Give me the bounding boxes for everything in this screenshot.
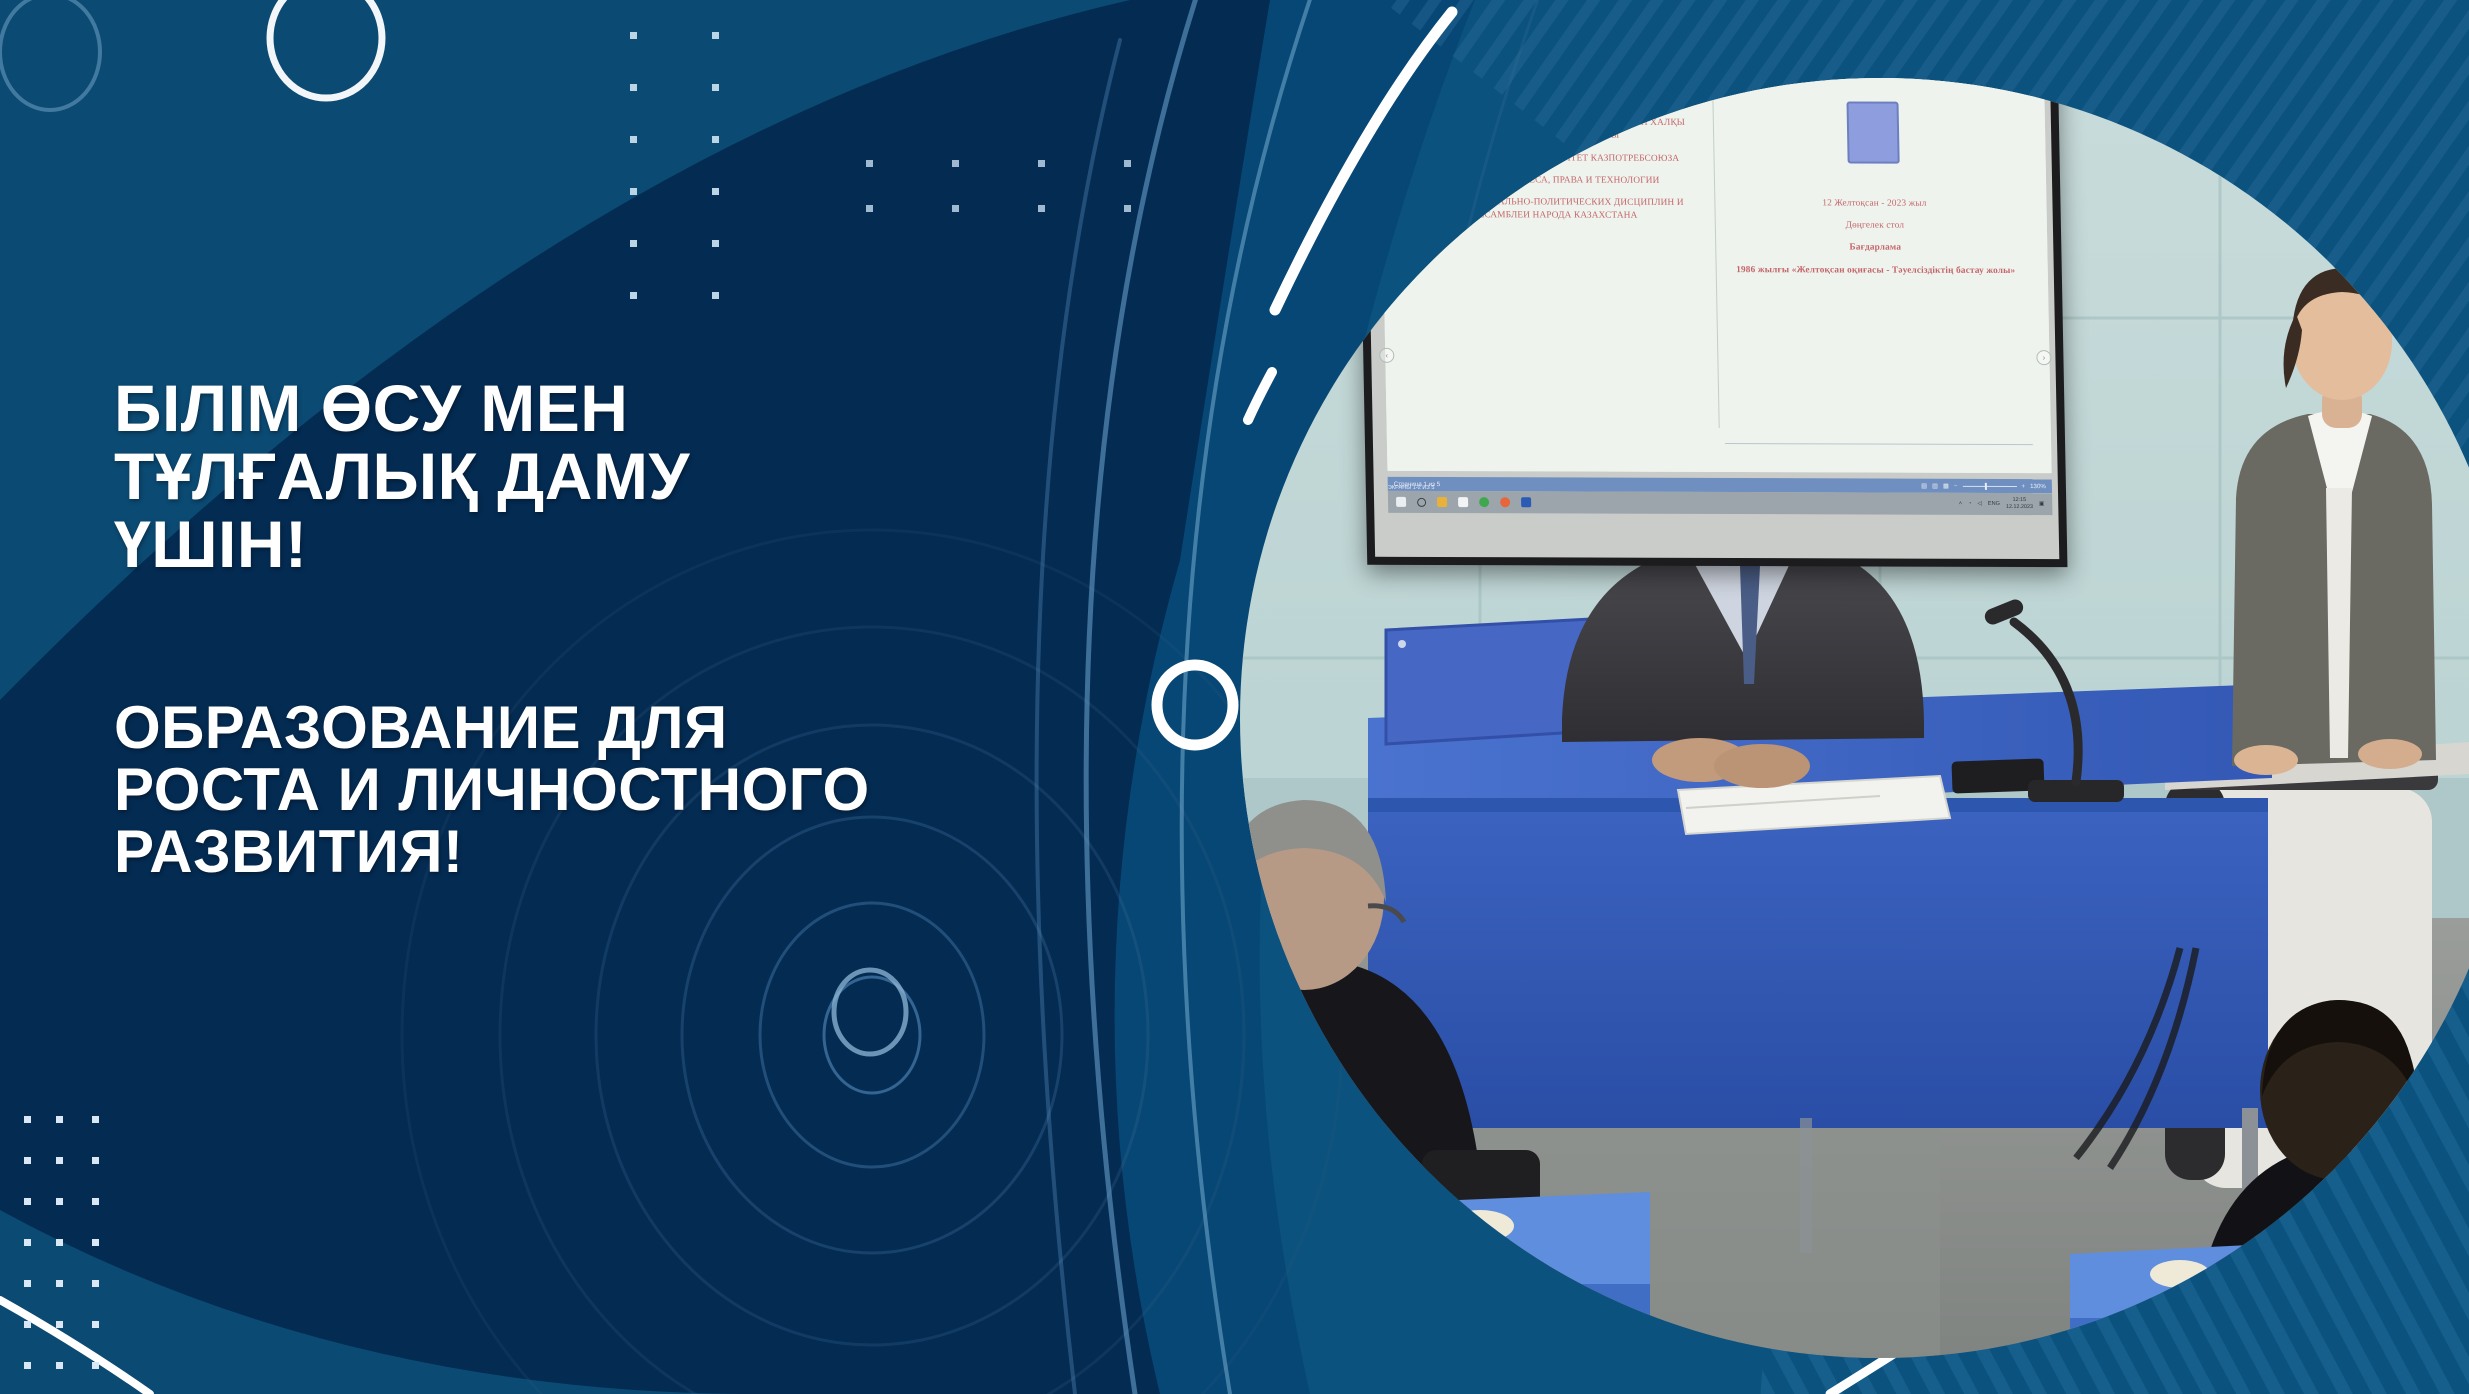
zoom-out-icon[interactable]: − bbox=[1954, 482, 1958, 489]
event-photo: Круглый стол Назавис. (защищенный просмо… bbox=[1180, 18, 2469, 1394]
zoom-level: 130% bbox=[2030, 483, 2046, 490]
document-page: ҚАЗТҰТЫНУОДАҒЫ ҚАРАҒАНДЫ УНИВЕРСИТЕТІ ӘЛ… bbox=[1380, 76, 2052, 473]
slide-left-column: ҚАЗТҰТЫНУОДАҒЫ ҚАРАҒАНДЫ УНИВЕРСИТЕТІ ӘЛ… bbox=[1392, 94, 1719, 472]
taskbar-clock[interactable]: 12:15 12.12.2023 bbox=[2006, 497, 2033, 511]
zoom-controls[interactable]: ▤ ▥ ▦ − + 130% bbox=[1921, 482, 2046, 489]
title-ru-line-3: РАЗВИТИЯ! bbox=[114, 821, 1194, 883]
university-logo-icon bbox=[1846, 102, 1899, 164]
event-date: 12 Желтоқсан - 2023 жыл bbox=[1724, 197, 2024, 211]
file-explorer-icon[interactable] bbox=[1437, 497, 1447, 507]
restore-icon[interactable]: ▭ bbox=[2015, 35, 2022, 44]
protected-view-tag: ЗАЩИЩЕННЫЙ ПРОСМОТР bbox=[1385, 49, 1477, 57]
title-kz-line-1: БІЛІМ ӨСУ МЕН bbox=[114, 375, 1194, 443]
store-icon[interactable] bbox=[1458, 497, 1468, 507]
slide-right-column: 12 Желтоқсан - 2023 жыл Дөңгелек стол Ба… bbox=[1712, 95, 2039, 473]
page-indicator: Страница 1 из 5 bbox=[1394, 480, 1922, 489]
language-indicator[interactable]: ENG bbox=[1988, 501, 2000, 507]
enable-editing-button[interactable]: Разрешить редактирование bbox=[1929, 51, 2026, 66]
ribbon-display-icon[interactable]: ⌷ bbox=[1988, 35, 1993, 45]
org-line-2: ӘЛЕУМЕТТІК-САЯСИ ПӘНДЕР ЖӘНЕ ҚАЗАҚСТАН Х… bbox=[1403, 116, 1704, 143]
title-russian: ОБРАЗОВАНИЕ ДЛЯ РОСТА И ЛИЧНОСТНОГО РАЗВ… bbox=[114, 697, 1194, 882]
protected-view-message: Будьте осторожны: файлы из Интернета мог… bbox=[1483, 49, 1923, 68]
event-photo-wrapper: Круглый стол Назавис. (защищенный просмо… bbox=[1180, 18, 2469, 1394]
word-window: Круглый стол Назавис. (защищенный просмо… bbox=[1379, 29, 2052, 473]
event-type: Дөңгелек стол bbox=[1725, 219, 2025, 233]
notifications-icon[interactable]: ▣ bbox=[2039, 501, 2044, 507]
org-line-4: ФАКУЛЬТЕТ БИЗНЕСА, ПРАВА И ТЕХНОЛОГИИ bbox=[1404, 174, 1704, 188]
protected-view-close-icon[interactable]: ✕ bbox=[2032, 51, 2038, 61]
poster-canvas: БІЛІМ ӨСУ МЕН ТҰЛҒАЛЫҚ ДАМУ ҮШІН! ОБРАЗО… bbox=[0, 0, 2469, 1394]
chrome-icon[interactable] bbox=[1479, 497, 1489, 507]
next-page-icon[interactable]: › bbox=[2036, 350, 2051, 365]
horizontal-rule bbox=[1725, 443, 2033, 445]
title-ru-line-1: ОБРАЗОВАНИЕ ДЛЯ bbox=[114, 697, 1194, 759]
window-title-text: Круглый стол Назавис. (защищенный просмо… bbox=[1565, 33, 1857, 43]
protected-view-bar: ЗАЩИЩЕННЫЙ ПРОСМОТР Будьте осторожны: фа… bbox=[1379, 46, 2044, 78]
clock-date: 12.12.2023 bbox=[2006, 504, 2033, 510]
start-icon[interactable] bbox=[1396, 497, 1406, 507]
firefox-icon[interactable] bbox=[1500, 497, 1510, 507]
org-line-1: ҚАЗТҰТЫНУОДАҒЫ ҚАРАҒАНДЫ УНИВЕРСИТЕТІ bbox=[1402, 94, 1702, 108]
window-controls[interactable]: ⌷ − ▭ ✕ bbox=[1988, 31, 2038, 48]
network-icon[interactable]: ◔ bbox=[1968, 501, 1972, 507]
clock-time: 12:15 bbox=[2013, 497, 2027, 503]
poster-titles: БІЛІМ ӨСУ МЕН ТҰЛҒАЛЫҚ ДАМУ ҮШІН! ОБРАЗО… bbox=[114, 375, 1194, 882]
zoom-in-icon[interactable]: + bbox=[2021, 483, 2025, 490]
org-line-5: КАФЕДРА СОЦИАЛЬНО-ПОЛИТИЧЕСКИХ ДИСЦИПЛИН… bbox=[1404, 196, 1705, 223]
view-web-icon[interactable]: ▦ bbox=[1943, 482, 1949, 489]
org-line-3: КАРАГАНДИНСКИЙ УНИВЕРСИТЕТ КАЗПОТРЕБСОЮЗ… bbox=[1403, 152, 1703, 166]
program-title: 1986 жылғы «Желтоқсан оқиғасы - Тәуелсіз… bbox=[1726, 264, 2026, 278]
chevron-up-icon[interactable]: ˄ bbox=[1959, 501, 1962, 507]
zoom-slider[interactable] bbox=[1962, 485, 2016, 486]
title-ru-line-2: РОСТА И ЛИЧНОСТНОГО bbox=[114, 759, 1194, 821]
volume-icon[interactable]: ◁ bbox=[1977, 501, 1981, 507]
program-label: Бағдарлама bbox=[1725, 241, 2025, 255]
window-title-bar: Круглый стол Назавис. (защищенный просмо… bbox=[1379, 29, 2043, 48]
close-icon[interactable]: ✕ bbox=[2031, 35, 2038, 44]
word-icon[interactable] bbox=[1521, 497, 1531, 507]
view-print-icon[interactable]: ▥ bbox=[1932, 482, 1938, 489]
search-icon[interactable] bbox=[1417, 497, 1426, 506]
prev-page-icon[interactable]: ‹ bbox=[1379, 348, 1394, 363]
windows-taskbar[interactable]: ˄ ◔ ◁ ENG 12:15 12.12.2023 ▣ bbox=[1388, 491, 2053, 515]
projection-screen: Круглый стол Назавис. (защищенный просмо… bbox=[1357, 18, 2068, 567]
title-kz-line-3: ҮШІН! bbox=[114, 511, 1194, 579]
title-kazakh: БІЛІМ ӨСУ МЕН ТҰЛҒАЛЫҚ ДАМУ ҮШІН! bbox=[114, 375, 1194, 579]
minimize-icon[interactable]: − bbox=[2001, 35, 2006, 44]
view-read-icon[interactable]: ▤ bbox=[1921, 482, 1927, 489]
title-kz-line-2: ТҰЛҒАЛЫҚ ДАМУ bbox=[114, 443, 1194, 511]
system-tray[interactable]: ˄ ◔ ◁ ENG 12:15 12.12.2023 ▣ bbox=[1959, 497, 2045, 511]
